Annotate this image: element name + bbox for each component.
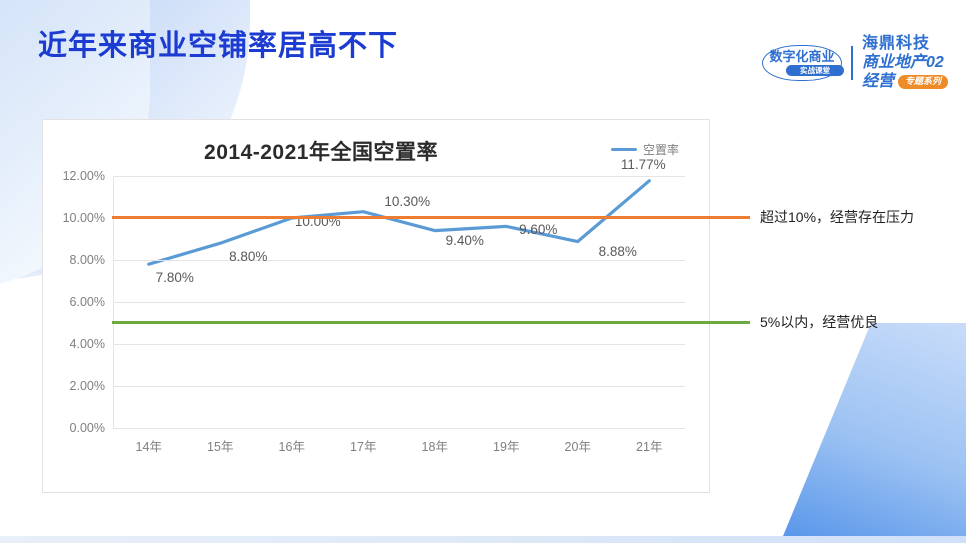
data-point-label: 10.30% [384, 194, 430, 209]
logo-course-badge: 数字化商业 实战课堂 [762, 43, 842, 83]
x-axis-tick-label: 15年 [185, 436, 257, 455]
data-point-label: 9.60% [519, 222, 557, 237]
x-axis-tick-label: 18年 [399, 436, 471, 455]
logo-course-main: 数字化商业 [767, 50, 837, 63]
legend-label: 空置率 [643, 141, 679, 158]
y-axis-tick-label: 4.00% [70, 337, 105, 351]
x-axis-tick-label: 14年 [113, 436, 185, 455]
decor-bottom-bar [0, 536, 966, 543]
data-point-label: 7.80% [156, 270, 194, 285]
x-axis-tick-label: 20年 [542, 436, 614, 455]
logo-brand-name: 海鼎科技 [862, 36, 948, 53]
logo-divider [851, 46, 853, 80]
reference-line-healthy [112, 321, 750, 324]
x-axis-tick-label: 17年 [328, 436, 400, 455]
x-axis-tick-label: 21年 [614, 436, 686, 455]
y-axis-tick-label: 8.00% [70, 253, 105, 267]
x-axis-tick-label: 16年 [256, 436, 328, 455]
grid-line [113, 344, 685, 345]
grid-line [113, 386, 685, 387]
data-point-label: 9.40% [446, 233, 484, 248]
data-point-label: 11.77% [621, 157, 666, 172]
chart-plot-area: 0.00%2.00%4.00%6.00%8.00%10.00%12.00%7.8… [113, 176, 685, 428]
brand-logo-lockup: 数字化商业 实战课堂 海鼎科技 商业地产02 经营 专题系列 [762, 36, 948, 90]
data-point-label: 8.88% [599, 244, 637, 259]
annotation-healthy: 5%以内，经营优良 [760, 312, 878, 332]
slide-canvas: 近年来商业空铺率居高不下 数字化商业 实战课堂 海鼎科技 商业地产02 经营 专… [0, 0, 966, 543]
logo-series-row: 经营 专题系列 [862, 74, 948, 91]
data-point-label: 8.80% [229, 249, 267, 264]
grid-line [113, 302, 685, 303]
chart-legend: 空置率 [611, 141, 679, 158]
grid-line [113, 176, 685, 177]
logo-course-sub: 实战课堂 [786, 65, 844, 76]
chart-card: 2014-2021年全国空置率 空置率 0.00%2.00%4.00%6.00%… [42, 119, 710, 493]
decor-bottom-right-gradient [776, 323, 966, 543]
y-axis-tick-label: 0.00% [70, 421, 105, 435]
chart-title: 2014-2021年全国空置率 [43, 136, 709, 166]
x-axis-labels: 14年15年16年17年18年19年20年21年 [113, 436, 685, 455]
x-axis-tick-label: 19年 [471, 436, 543, 455]
y-axis-tick-label: 6.00% [70, 295, 105, 309]
y-axis-tick-label: 2.00% [70, 379, 105, 393]
y-axis-tick-label: 10.00% [63, 211, 105, 225]
page-title: 近年来商业空铺率居高不下 [38, 22, 398, 64]
grid-line [113, 260, 685, 261]
logo-series-word: 经营 [862, 74, 894, 91]
annotation-pressure: 超过10%，经营存在压力 [760, 207, 914, 227]
logo-topic-badge: 专题系列 [898, 75, 948, 89]
logo-text-block: 海鼎科技 商业地产02 经营 专题系列 [862, 36, 948, 90]
grid-line [113, 428, 685, 429]
reference-line-pressure [112, 216, 750, 219]
logo-series-line: 商业地产02 [862, 55, 948, 72]
legend-swatch-icon [611, 148, 637, 151]
y-axis-tick-label: 12.00% [63, 169, 105, 183]
